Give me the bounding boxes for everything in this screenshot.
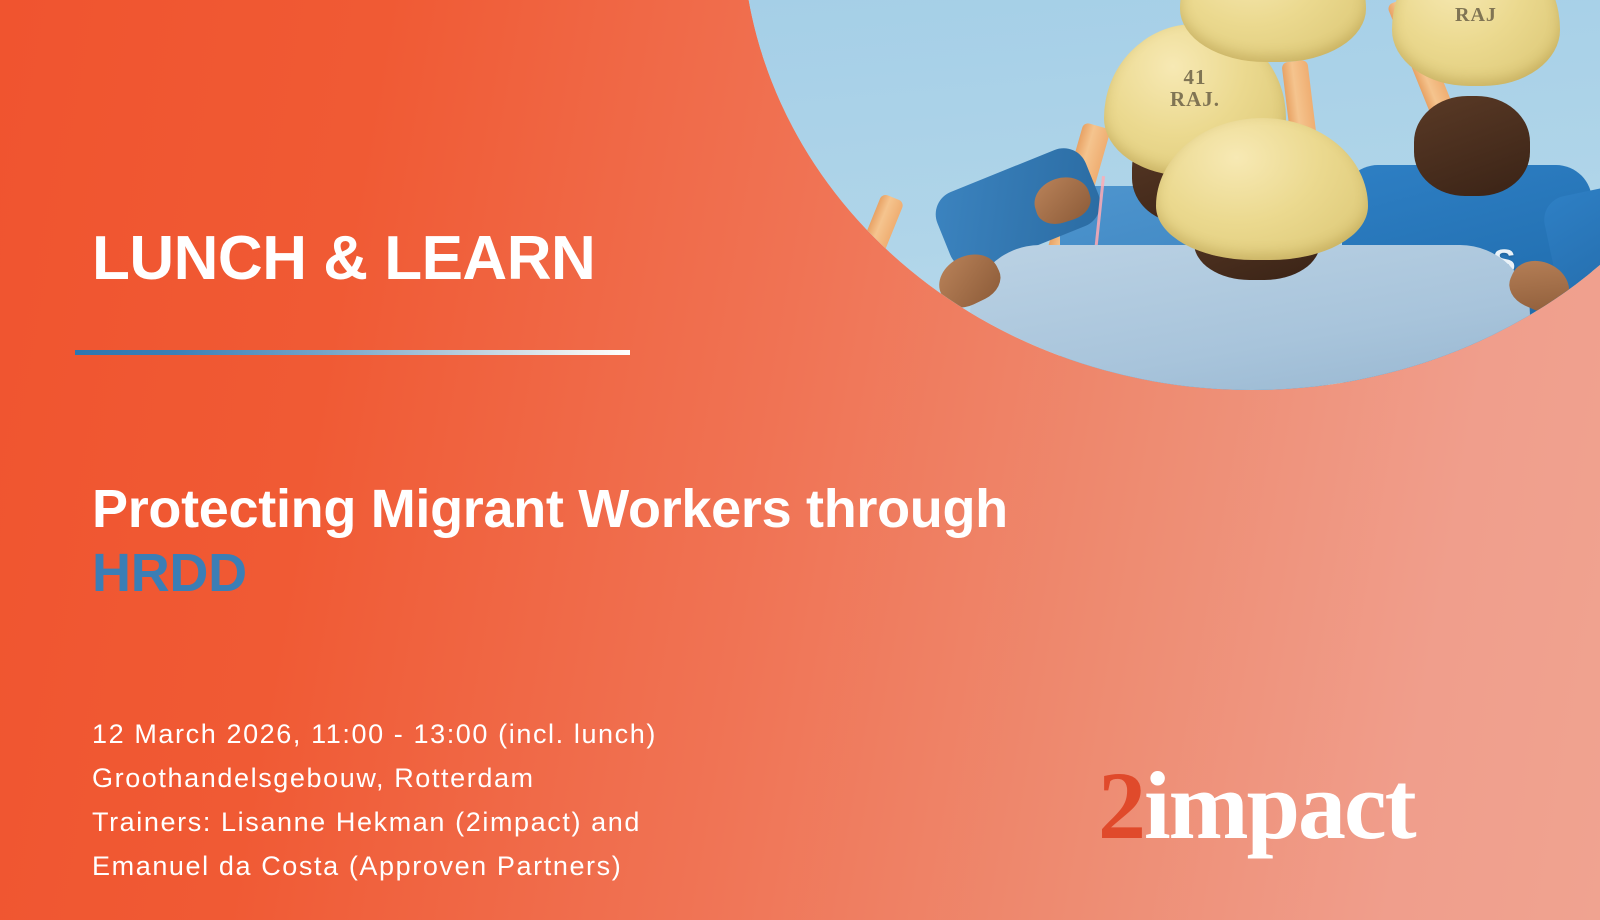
kicker-heading: LUNCH & LEARN	[92, 228, 595, 290]
title-main: Protecting Migrant Workers through	[92, 479, 1008, 539]
logo-word: impact	[1144, 752, 1415, 859]
title-accent: HRDD	[92, 543, 247, 603]
promo-banner: MIDAS 42RAJ 41RAJ.	[0, 0, 1600, 920]
event-details: 12 March 2026, 11:00 - 13:00 (incl. lunc…	[92, 712, 657, 888]
page-title: Protecting Migrant Workers through HRDD	[92, 478, 1292, 605]
hard-hat-label: 42RAJ	[1392, 0, 1560, 26]
divider-rule	[75, 350, 630, 355]
event-trainers-line2: Emanuel da Costa (Approven Partners)	[92, 844, 657, 888]
event-venue: Groothandelsgebouw, Rotterdam	[92, 756, 657, 800]
event-datetime: 12 March 2026, 11:00 - 13:00 (incl. lunc…	[92, 712, 657, 756]
event-trainers-line1: Trainers: Lisanne Hekman (2impact) and	[92, 800, 657, 844]
worker-head	[1414, 96, 1530, 196]
banner-content: LUNCH & LEARN Protecting Migrant Workers…	[92, 0, 1272, 920]
logo-mark: 2	[1098, 752, 1144, 859]
brand-logo: 2impact	[1098, 758, 1415, 854]
